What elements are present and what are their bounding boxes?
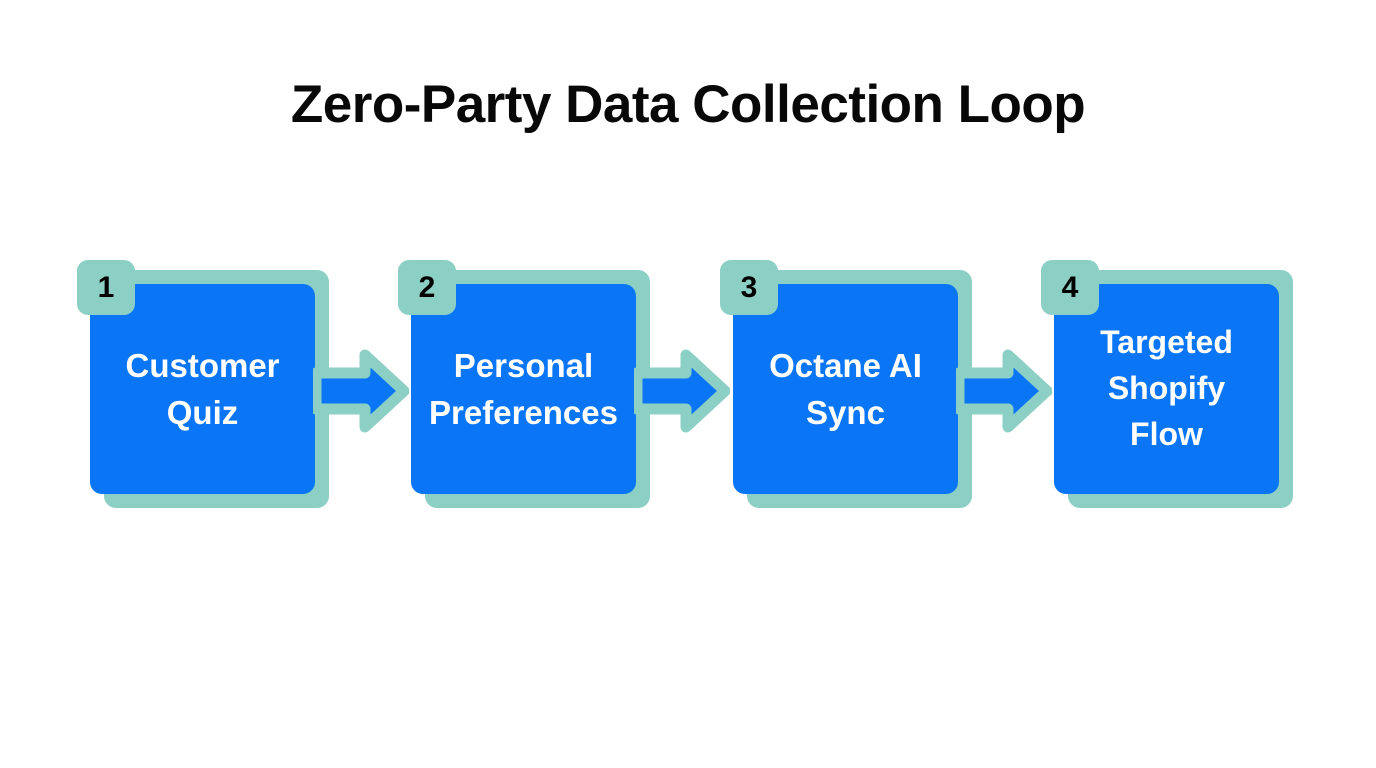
step-number-badge: 1 xyxy=(77,260,135,315)
step-card[interactable]: TargetedShopifyFlow xyxy=(1054,284,1279,494)
step-number: 4 xyxy=(1062,273,1079,303)
step-label-line-1: Targeted xyxy=(1100,324,1233,360)
step-label: Octane AISync xyxy=(769,342,922,436)
step-label-line-3: Flow xyxy=(1130,416,1203,452)
step-label-line-1: Customer xyxy=(125,347,279,384)
step-label: TargetedShopifyFlow xyxy=(1100,320,1233,457)
step-label-line-1: Octane AI xyxy=(769,347,922,384)
step-label-line-2: Quiz xyxy=(167,394,239,431)
step-number-badge: 3 xyxy=(720,260,778,315)
step-card[interactable]: CustomerQuiz xyxy=(90,284,315,494)
process-step-4[interactable]: TargetedShopifyFlow 4 xyxy=(1054,262,1316,512)
arrow-right-icon xyxy=(313,348,409,434)
step-label-line-1: Personal xyxy=(454,347,593,384)
step-card[interactable]: Octane AISync xyxy=(733,284,958,494)
process-flow: CustomerQuiz 1 PersonalPreferences 2 xyxy=(0,0,1376,768)
step-number-badge: 2 xyxy=(398,260,456,315)
step-number: 1 xyxy=(98,273,115,303)
step-number: 2 xyxy=(419,273,436,303)
step-card[interactable]: PersonalPreferences xyxy=(411,284,636,494)
step-label-line-2: Preferences xyxy=(429,394,618,431)
diagram-canvas: Zero-Party Data Collection Loop Customer… xyxy=(0,0,1376,768)
step-label: PersonalPreferences xyxy=(429,342,618,436)
arrow-right-icon xyxy=(634,348,730,434)
step-number-badge: 4 xyxy=(1041,260,1099,315)
flow-arrow-1-to-2 xyxy=(313,348,409,434)
flow-arrow-3-to-4 xyxy=(956,348,1052,434)
arrow-right-icon xyxy=(956,348,1052,434)
step-label-line-2: Shopify xyxy=(1108,370,1225,406)
flow-arrow-2-to-3 xyxy=(634,348,730,434)
step-label: CustomerQuiz xyxy=(125,342,279,436)
step-label-line-2: Sync xyxy=(806,394,885,431)
step-number: 3 xyxy=(741,273,758,303)
